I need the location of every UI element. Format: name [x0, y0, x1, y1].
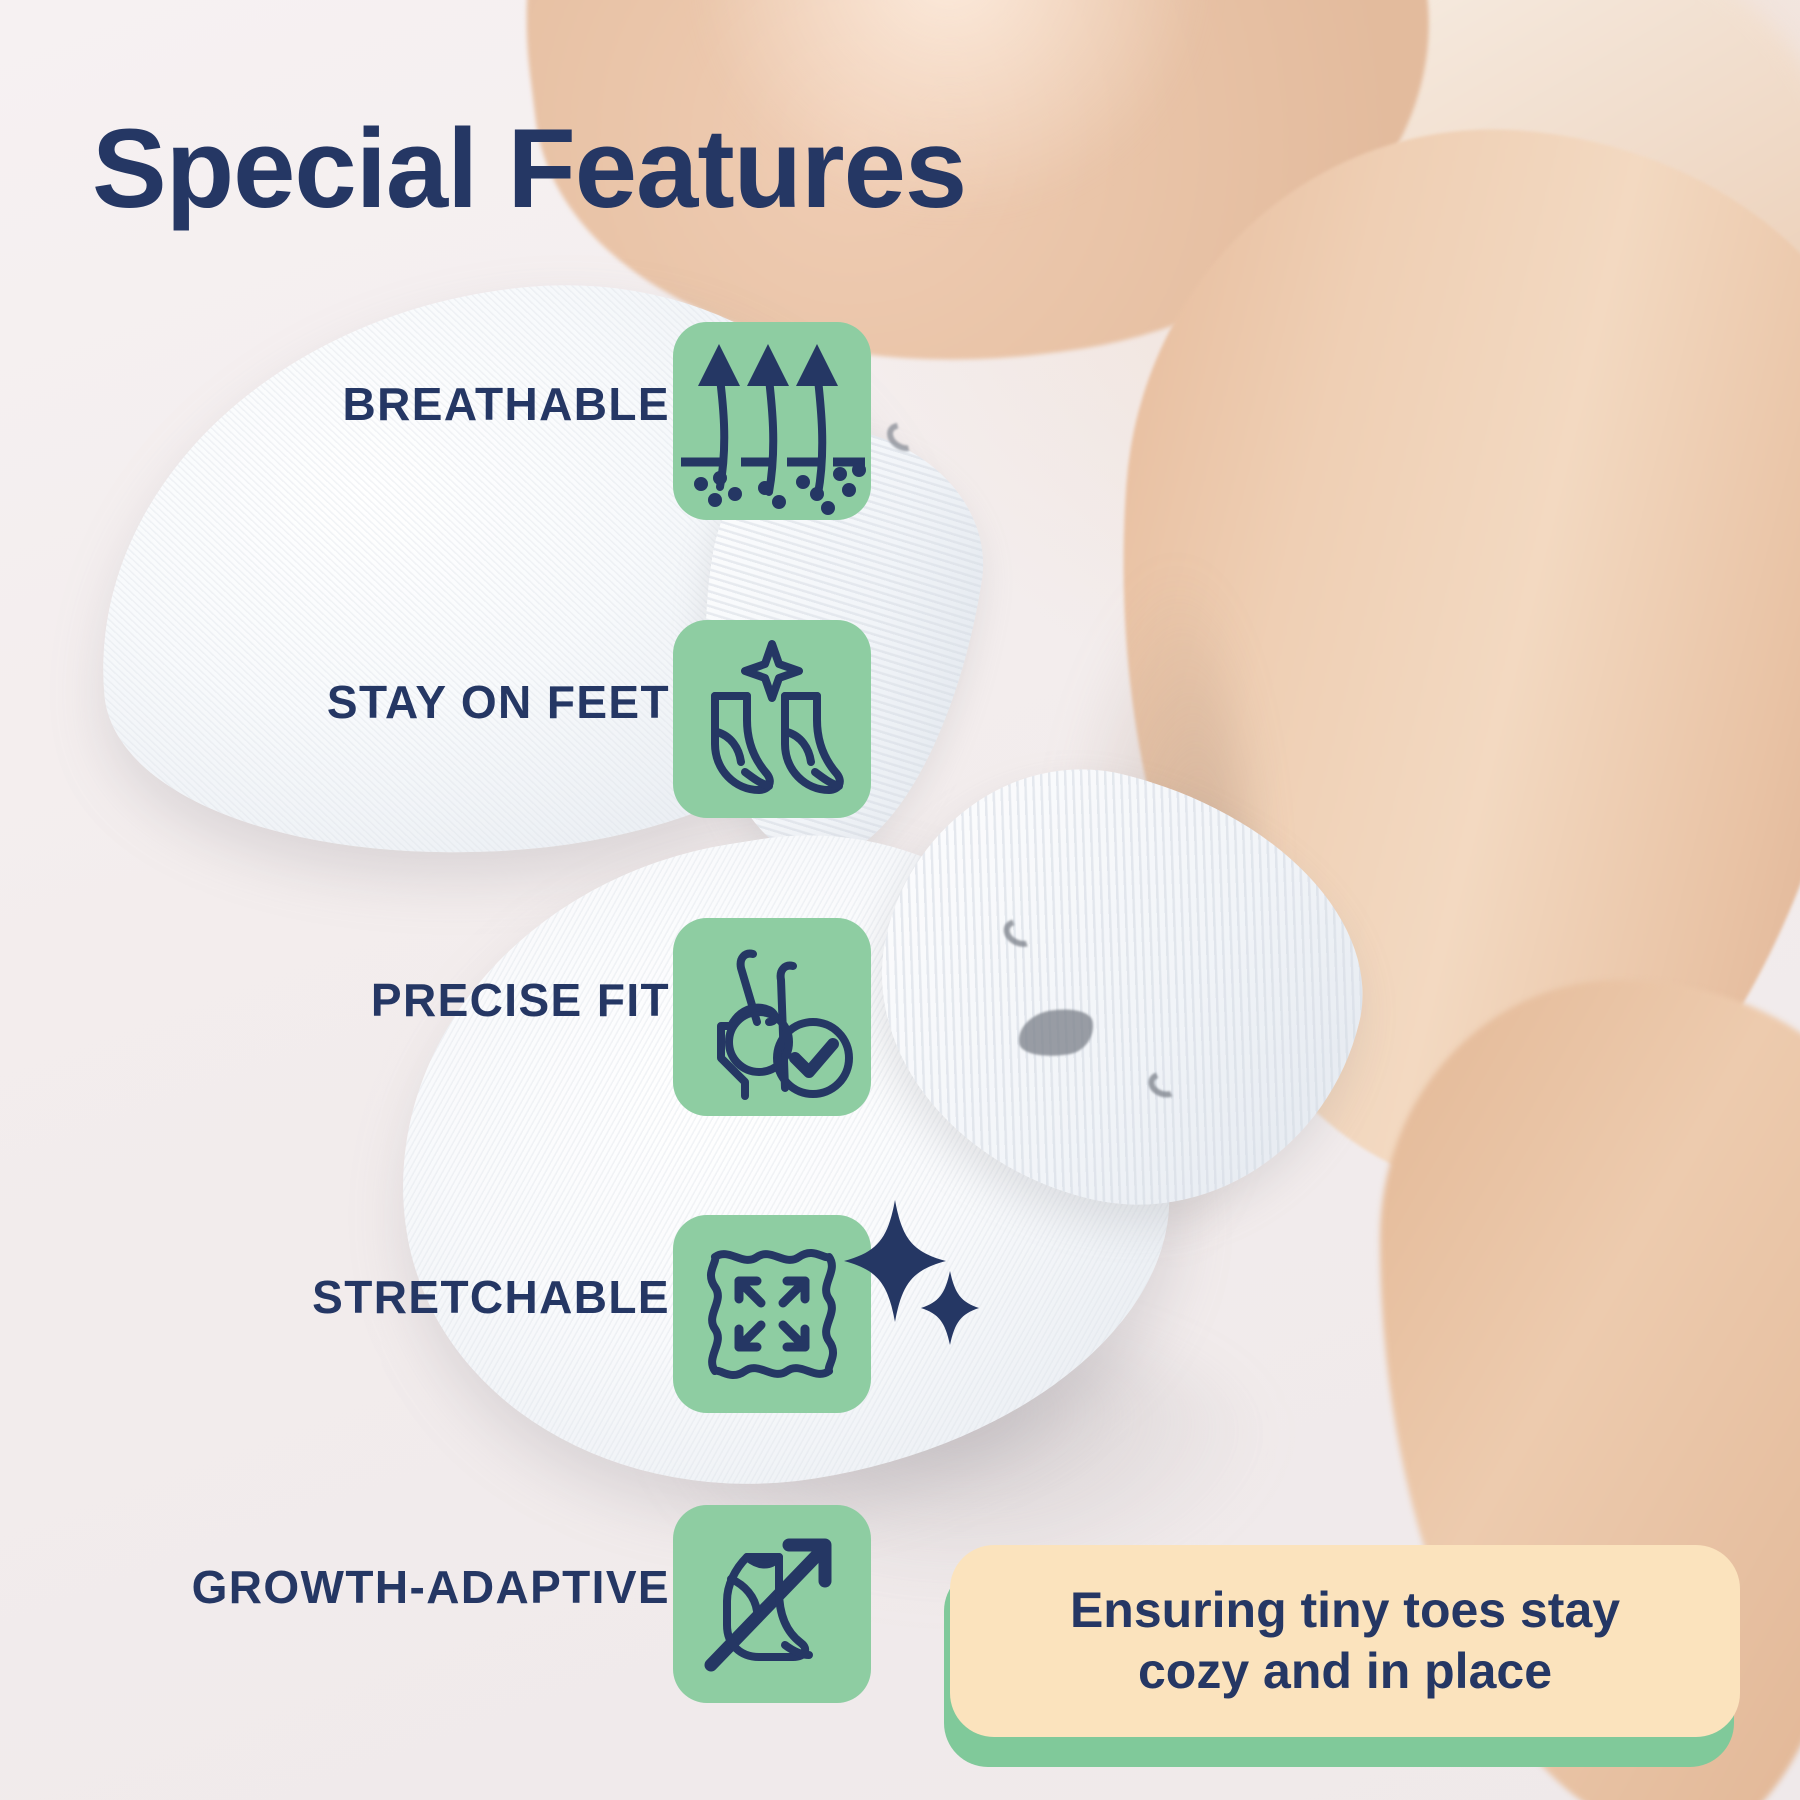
caption-callout: Ensuring tiny toes stay cozy and in plac… [950, 1545, 1740, 1763]
feature-label-growth-adaptive: GROWTH-ADAPTIVE [192, 1560, 670, 1614]
caption-line-2: cozy and in place [1070, 1641, 1620, 1702]
feature-label-stretchable: STRETCHABLE [312, 1270, 670, 1324]
pair-of-socks-sparkle-icon [673, 620, 871, 818]
feature-row-growth-adaptive: GROWTH-ADAPTIVE [0, 1505, 800, 1669]
sparkle-accent-icon [745, 644, 799, 698]
feature-row-stretchable: STRETCHABLE [0, 1215, 800, 1379]
feature-row-stay-on-feet: STAY ON FEET [0, 620, 800, 784]
feature-icon-tile-breathable [673, 322, 871, 520]
page-title: Special Features [92, 112, 966, 226]
caption-text: Ensuring tiny toes stay cozy and in plac… [1036, 1580, 1654, 1702]
caption-line-1: Ensuring tiny toes stay [1070, 1580, 1620, 1641]
feature-row-precise-fit: PRECISE FIT [0, 918, 800, 1082]
feature-label-breathable: BREATHABLE [343, 377, 670, 431]
check-mark-icon [795, 1044, 833, 1072]
feature-label-precise-fit: PRECISE FIT [371, 973, 670, 1027]
caption-box: Ensuring tiny toes stay cozy and in plac… [950, 1545, 1740, 1737]
feature-icon-tile-precise-fit [673, 918, 871, 1116]
sock-growth-arrow-icon [673, 1505, 871, 1703]
feature-label-stay-on-feet: STAY ON FEET [327, 675, 670, 729]
breathable-airflow-arrows-icon [673, 322, 871, 520]
ok-hand-checkmark-icon [673, 918, 871, 1116]
four-point-sparkle-icon-small [918, 1268, 982, 1348]
feature-row-breathable: BREATHABLE [0, 322, 800, 486]
feature-icon-tile-stay-on-feet [673, 620, 871, 818]
feature-icon-tile-growth-adaptive [673, 1505, 871, 1703]
